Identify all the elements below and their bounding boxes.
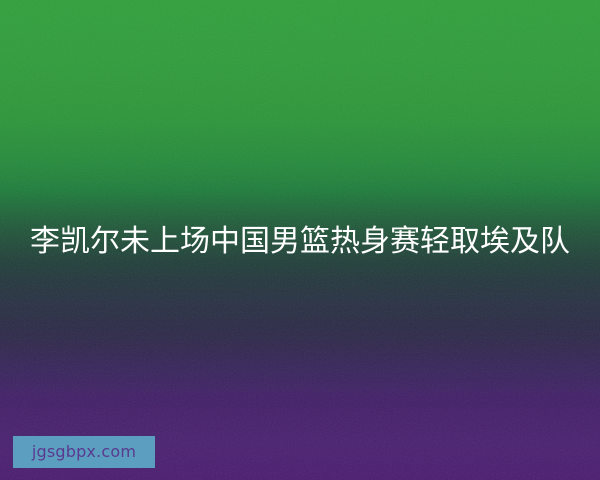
watermark-label: jgsgbpx.com xyxy=(32,444,136,460)
page-title: 李凯尔未上场中国男篮热身赛轻取埃及队 xyxy=(0,222,600,262)
watermark-badge: jgsgbpx.com xyxy=(13,436,155,468)
poster-image: 李凯尔未上场中国男篮热身赛轻取埃及队 jgsgbpx.com xyxy=(0,0,600,480)
